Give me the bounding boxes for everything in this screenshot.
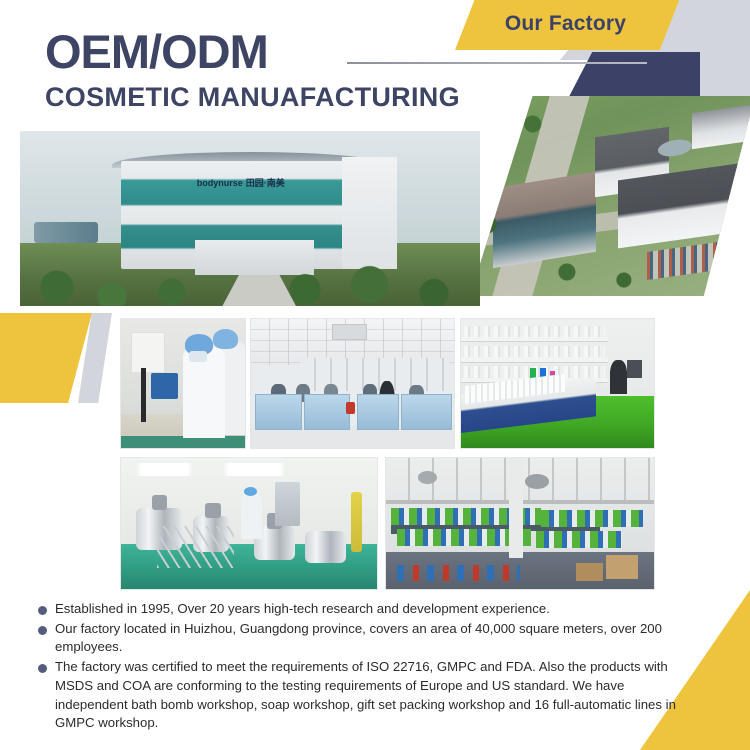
page-title: OEM/ODM <box>45 28 268 75</box>
bullet-dot-icon <box>38 664 47 673</box>
lab-worker-one-mask <box>189 351 206 361</box>
office-ac-vent <box>332 324 366 340</box>
lab-instrument <box>151 373 178 399</box>
lab-technicians-photo <box>120 318 246 449</box>
storage-bottle-row <box>464 326 605 338</box>
storage-lab-photo <box>460 318 655 449</box>
production-photo <box>120 457 378 590</box>
left-accent-shape <box>0 313 112 403</box>
building-parked-cars <box>34 222 98 243</box>
feature-bullet-list: Established in 1995, Over 20 years high-… <box>38 600 678 734</box>
packing-pillar <box>509 458 522 558</box>
factory-profile-page: Our Factory OEM/ODM COSMETIC MANUAFACTUR… <box>0 0 750 750</box>
building-signage: bodynurse 田园·南美 <box>158 175 324 191</box>
storage-bottle-row <box>464 346 605 358</box>
office-cubicle <box>304 394 351 430</box>
storage-shelf <box>461 337 608 342</box>
bullet-text: Our factory located in Huizhou, Guangdon… <box>55 620 678 657</box>
list-item: Established in 1995, Over 20 years high-… <box>38 600 678 619</box>
packing-worker-row <box>541 510 643 527</box>
page-subtitle: COSMETIC MANUAFACTURING <box>45 84 460 111</box>
list-item: The factory was certified to meet the re… <box>38 658 678 733</box>
storage-monitor <box>627 360 642 378</box>
bullet-dot-icon <box>38 606 47 615</box>
office-cubicle <box>401 394 452 430</box>
lab-stand <box>141 368 146 422</box>
packing-carton <box>576 563 603 581</box>
office-cubicle <box>255 394 302 430</box>
building-shrubs <box>20 243 480 306</box>
storage-seated-worker <box>610 360 627 394</box>
our-factory-badge-label: Our Factory <box>505 12 626 36</box>
left-accent-yellow <box>0 313 92 403</box>
office-photo <box>250 318 455 449</box>
packing-worker-row <box>536 531 622 548</box>
bullet-text: The factory was certified to meet the re… <box>55 658 678 733</box>
lab-wall-papers <box>131 332 165 373</box>
production-yellow-hose <box>351 492 361 552</box>
title-divider-rule <box>347 62 647 64</box>
production-control-panel <box>275 482 301 527</box>
aerial-trees <box>470 96 750 296</box>
office-red-bag <box>346 402 354 415</box>
production-tank-head <box>152 495 167 511</box>
packing-workshop-photo <box>385 457 655 590</box>
production-worker-cap <box>244 487 257 496</box>
production-tank-head <box>205 503 220 519</box>
lab-worker-two-cap <box>213 329 238 348</box>
lab-floor <box>121 436 245 448</box>
packing-carton <box>606 555 638 579</box>
office-cubicle <box>357 394 400 430</box>
list-item: Our factory located in Huizhou, Guangdon… <box>38 620 678 657</box>
our-factory-badge: Our Factory <box>455 0 680 50</box>
bullet-dot-icon <box>38 626 47 635</box>
aerial-factory-photo <box>470 96 750 296</box>
production-stair-rail <box>157 526 234 568</box>
production-mixing-tank <box>305 531 346 562</box>
main-building-photo: bodynurse 田园·南美 <box>20 131 480 306</box>
building-sign-logo: bodynurse <box>197 178 243 188</box>
production-worker <box>241 492 261 539</box>
packing-stools <box>397 565 520 581</box>
production-ceiling-lights <box>121 463 377 476</box>
bullet-text: Established in 1995, Over 20 years high-… <box>55 600 550 619</box>
storage-shelf <box>461 357 608 362</box>
building-sign-chinese: 田园·南美 <box>246 176 285 189</box>
